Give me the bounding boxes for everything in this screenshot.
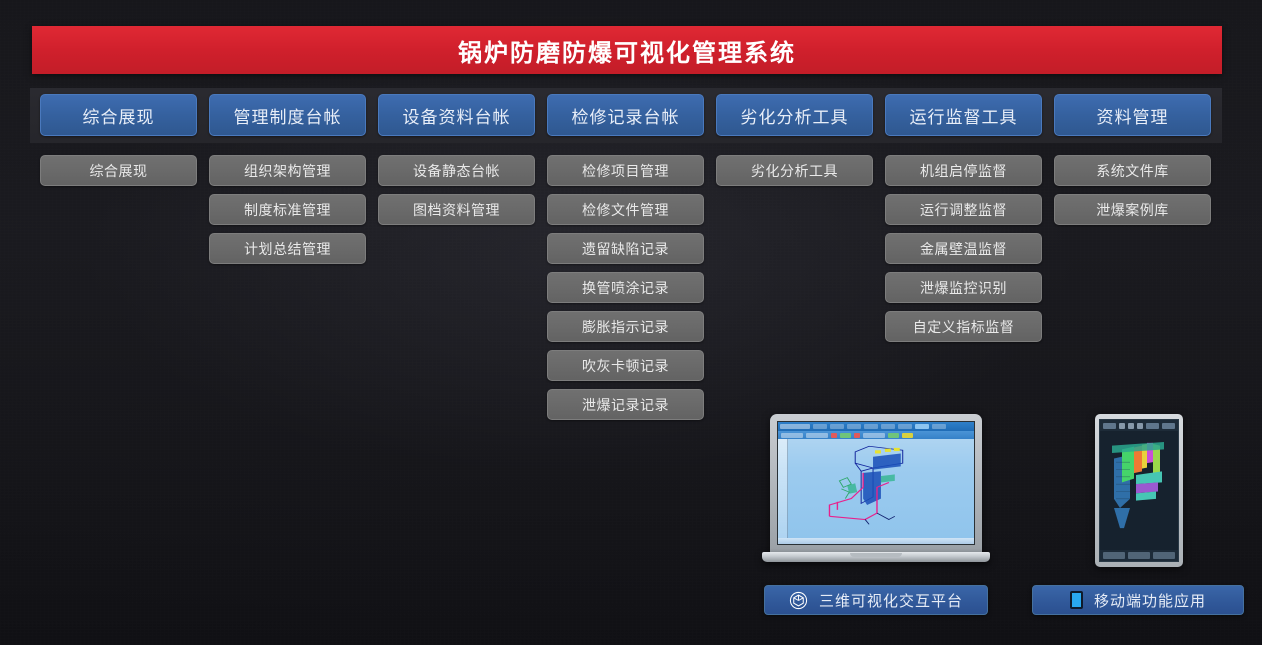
mobile-phone-icon bbox=[1070, 591, 1083, 609]
boiler-3d-model-phone bbox=[1100, 431, 1178, 541]
nav-column: 劣化分析工具劣化分析工具 bbox=[716, 94, 873, 420]
subbar-alert-chip bbox=[854, 433, 860, 438]
subbar-field-chip bbox=[806, 433, 828, 438]
feature-button-mobile-app-label: 移动端功能应用 bbox=[1094, 590, 1206, 611]
phone-screen-bottombar bbox=[1100, 550, 1178, 561]
nav-sub-button[interactable]: 检修文件管理 bbox=[547, 194, 704, 225]
nav-sub-button[interactable]: 设备静态台帐 bbox=[378, 155, 535, 186]
laptop-screen-statusbar bbox=[778, 538, 974, 544]
toolbar-tab-chip bbox=[847, 424, 861, 429]
subbar-field-chip bbox=[781, 433, 803, 438]
laptop-base bbox=[762, 552, 990, 562]
nav-top-button[interactable]: 运行监督工具 bbox=[885, 94, 1042, 136]
nav-sub-button[interactable]: 自定义指标监督 bbox=[885, 311, 1042, 342]
cube-3d-icon bbox=[789, 591, 808, 610]
phone-toolbar-chip bbox=[1103, 423, 1116, 429]
nav-column: 综合展现综合展现 bbox=[40, 94, 197, 420]
nav-top-button[interactable]: 劣化分析工具 bbox=[716, 94, 873, 136]
nav-sub-button[interactable]: 机组启停监督 bbox=[885, 155, 1042, 186]
phone-bottom-chip bbox=[1128, 552, 1150, 559]
toolbar-tab-chip bbox=[898, 424, 912, 429]
nav-sub-button[interactable]: 系统文件库 bbox=[1054, 155, 1211, 186]
nav-sub-button[interactable]: 遗留缺陷记录 bbox=[547, 233, 704, 264]
laptop-screen-toolbar bbox=[778, 422, 974, 431]
toolbar-logo-chip bbox=[780, 424, 810, 429]
navigation-columns: 综合展现综合展现管理制度台帐组织架构管理制度标准管理计划总结管理设备资料台帐设备… bbox=[40, 94, 1212, 420]
nav-sub-button[interactable]: 吹灰卡顿记录 bbox=[547, 350, 704, 381]
nav-top-button[interactable]: 综合展现 bbox=[40, 94, 197, 136]
toolbar-tab-chip bbox=[830, 424, 844, 429]
feature-button-3d-platform[interactable]: 三维可视化交互平台 bbox=[764, 585, 988, 615]
page-title: 锅炉防磨防爆可视化管理系统 bbox=[458, 33, 796, 68]
nav-sub-button[interactable]: 金属壁温监督 bbox=[885, 233, 1042, 264]
phone-bottom-chip bbox=[1103, 552, 1125, 559]
nav-sub-button[interactable]: 制度标准管理 bbox=[209, 194, 366, 225]
phone-toolbar-chip bbox=[1162, 423, 1175, 429]
toolbar-tab-chip bbox=[881, 424, 895, 429]
nav-sub-button[interactable]: 图档资料管理 bbox=[378, 194, 535, 225]
feature-button-mobile-app[interactable]: 移动端功能应用 bbox=[1032, 585, 1244, 615]
subbar-warn-chip bbox=[902, 433, 913, 438]
nav-sub-button[interactable]: 换管喷涂记录 bbox=[547, 272, 704, 303]
phone-screen-toolbar bbox=[1100, 420, 1178, 431]
nav-sub-button[interactable]: 泄爆案例库 bbox=[1054, 194, 1211, 225]
phone-toolbar-chip bbox=[1119, 423, 1125, 429]
nav-top-button[interactable]: 设备资料台帐 bbox=[378, 94, 535, 136]
nav-column: 资料管理系统文件库泄爆案例库 bbox=[1054, 94, 1211, 420]
phone-device-illustration bbox=[1095, 414, 1183, 567]
nav-sub-button[interactable]: 膨胀指示记录 bbox=[547, 311, 704, 342]
toolbar-tab-chip bbox=[932, 424, 946, 429]
nav-sub-button[interactable]: 泄爆监控识别 bbox=[885, 272, 1042, 303]
toolbar-tab-chip bbox=[864, 424, 878, 429]
laptop-screen-subbar bbox=[778, 431, 974, 439]
nav-sub-button[interactable]: 综合展现 bbox=[40, 155, 197, 186]
toolbar-tab-chip bbox=[813, 424, 827, 429]
nav-column: 管理制度台帐组织架构管理制度标准管理计划总结管理 bbox=[209, 94, 366, 420]
subbar-alert-chip bbox=[831, 433, 837, 438]
nav-top-button[interactable]: 资料管理 bbox=[1054, 94, 1211, 136]
nav-sub-button[interactable]: 组织架构管理 bbox=[209, 155, 366, 186]
app-root: 锅炉防磨防爆可视化管理系统 综合展现综合展现管理制度台帐组织架构管理制度标准管理… bbox=[0, 0, 1262, 645]
feature-button-3d-platform-label: 三维可视化交互平台 bbox=[819, 590, 963, 611]
laptop-device-illustration bbox=[762, 414, 990, 562]
boiler-3d-model-laptop bbox=[778, 439, 974, 534]
phone-toolbar-chip bbox=[1128, 423, 1134, 429]
laptop-screen bbox=[777, 421, 975, 545]
laptop-lid bbox=[770, 414, 982, 554]
nav-column: 检修记录台帐检修项目管理检修文件管理遗留缺陷记录换管喷涂记录膨胀指示记录吹灰卡顿… bbox=[547, 94, 704, 420]
subbar-ok-chip bbox=[888, 433, 899, 438]
phone-toolbar-chip bbox=[1137, 423, 1143, 429]
toolbar-tab-chip-selected bbox=[915, 424, 929, 429]
nav-sub-button[interactable]: 泄爆记录记录 bbox=[547, 389, 704, 420]
nav-top-button[interactable]: 检修记录台帐 bbox=[547, 94, 704, 136]
phone-toolbar-chip bbox=[1146, 423, 1159, 429]
phone-bottom-chip bbox=[1153, 552, 1175, 559]
nav-top-button[interactable]: 管理制度台帐 bbox=[209, 94, 366, 136]
nav-sub-button[interactable]: 劣化分析工具 bbox=[716, 155, 873, 186]
subbar-field-chip bbox=[863, 433, 885, 438]
app-title-bar: 锅炉防磨防爆可视化管理系统 bbox=[32, 26, 1222, 74]
nav-sub-button[interactable]: 计划总结管理 bbox=[209, 233, 366, 264]
subbar-ok-chip bbox=[840, 433, 851, 438]
nav-sub-button[interactable]: 运行调整监督 bbox=[885, 194, 1042, 225]
nav-column: 设备资料台帐设备静态台帐图档资料管理 bbox=[378, 94, 535, 420]
nav-column: 运行监督工具机组启停监督运行调整监督金属壁温监督泄爆监控识别自定义指标监督 bbox=[885, 94, 1042, 420]
phone-screen bbox=[1099, 419, 1179, 562]
nav-sub-button[interactable]: 检修项目管理 bbox=[547, 155, 704, 186]
